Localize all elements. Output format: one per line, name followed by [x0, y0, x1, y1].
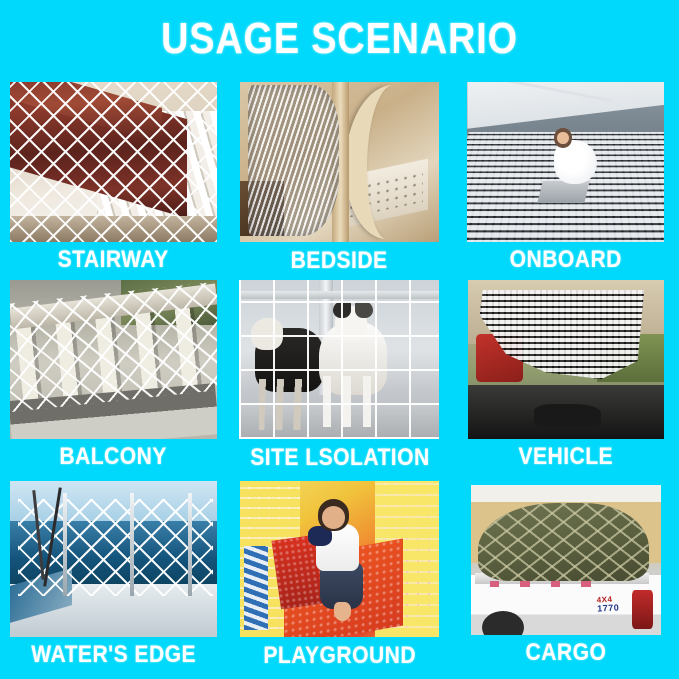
page-title: USAGE SCENARIO — [48, 0, 632, 78]
scenario-label-bedside: BEDSIDE — [291, 249, 388, 273]
scenario-label-balcony: BALCONY — [59, 445, 167, 469]
scenario-label-vehicle: VEHICLE — [519, 445, 614, 469]
scenario-label-cargo: CARGO — [525, 641, 606, 665]
truck-badge-phone: 1770 — [597, 604, 619, 615]
scenario-cell-balcony[interactable]: BALCONY — [0, 278, 226, 478]
scenario-cell-waters-edge[interactable]: WATER'S EDGE — [0, 479, 226, 679]
scenario-image-balcony — [10, 280, 217, 439]
scenario-label-stairway: STAIRWAY — [58, 248, 169, 272]
scenario-image-bedside — [240, 82, 439, 242]
scenario-image-onboard — [467, 82, 664, 242]
scenario-cell-vehicle[interactable]: VEHICLE — [453, 278, 679, 478]
scenario-grid: STAIRWAY BEDSIDE — [0, 78, 679, 679]
scenario-cell-playground[interactable]: PLAYGROUND — [226, 479, 452, 679]
scenario-cell-stairway[interactable]: STAIRWAY — [0, 78, 226, 278]
scenario-label-waters-edge: WATER'S EDGE — [31, 643, 196, 667]
scenario-image-cargo: 4X4 1770 — [471, 485, 661, 635]
scenario-image-stairway — [10, 82, 217, 242]
usage-scenario-poster: USAGE SCENARIO STAIRWAY — [0, 0, 679, 679]
scenario-label-playground: PLAYGROUND — [263, 644, 416, 668]
scenario-cell-onboard[interactable]: ONBOARD — [453, 78, 679, 278]
scenario-cell-site-isolation[interactable]: SITE LSOLATION — [226, 278, 452, 478]
scenario-image-playground — [240, 481, 439, 637]
truck-badge: 4X4 1770 — [597, 595, 620, 614]
scenario-label-site-isolation: SITE LSOLATION — [250, 446, 429, 470]
scenario-cell-bedside[interactable]: BEDSIDE — [226, 78, 452, 278]
scenario-label-onboard: ONBOARD — [510, 248, 622, 272]
scenario-image-waters-edge — [10, 481, 217, 637]
scenario-image-vehicle — [468, 280, 664, 439]
scenario-image-site-isolation — [239, 280, 439, 439]
scenario-cell-cargo[interactable]: 4X4 1770 CARGO — [453, 479, 679, 679]
